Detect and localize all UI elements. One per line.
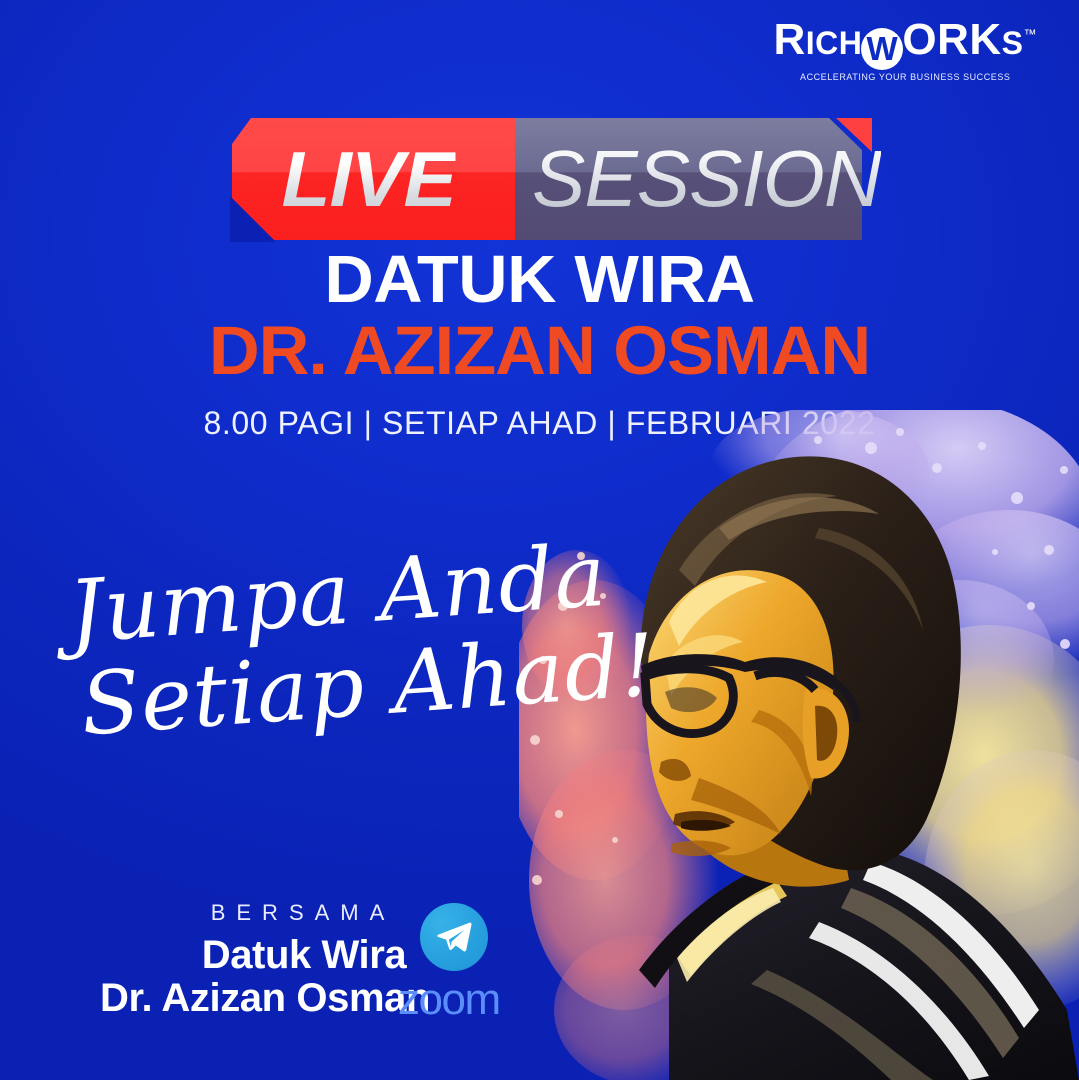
live-session-banner: LIVE SESSION	[232, 118, 862, 240]
portrait-artwork	[519, 410, 1079, 1080]
brand-text-part3: ORK	[902, 15, 1001, 64]
script-headline: Jumpa Anda Setiap Ahad!	[66, 532, 659, 747]
zoom-logo[interactable]: zoom	[398, 978, 500, 1022]
portrait-illustration	[519, 410, 1079, 1080]
speaker-name: DR. AZIZAN OSMAN	[0, 316, 1079, 386]
hair-shape	[641, 456, 961, 870]
brand-wordmark: RICHWORKS™	[773, 18, 1037, 70]
live-label: LIVE	[281, 118, 455, 240]
paper-plane-glyph	[434, 917, 474, 957]
richworks-logo: RICHWORKS™ ACCELERATING YOUR BUSINESS SU…	[773, 18, 1037, 82]
brand-text-part2: ICH	[806, 25, 863, 61]
jacket-shape	[669, 848, 1079, 1080]
brand-tagline: ACCELERATING YOUR BUSINESS SUCCESS	[773, 73, 1037, 82]
brand-text-part4: S	[1002, 25, 1024, 61]
poster-canvas: RICHWORKS™ ACCELERATING YOUR BUSINESS SU…	[0, 0, 1079, 1080]
headline-block: DATUK WIRA DR. AZIZAN OSMAN 8.00 PAGI | …	[0, 246, 1079, 442]
session-label: SESSION	[532, 118, 881, 240]
trademark-symbol: ™	[1024, 26, 1038, 41]
brand-text-part1: R	[773, 15, 805, 64]
speaker-title: DATUK WIRA	[0, 246, 1079, 314]
telegram-icon[interactable]	[420, 903, 488, 971]
brand-circle-w: W	[861, 28, 903, 70]
schedule-text: 8.00 PAGI | SETIAP AHAD | FEBRUARI 2022	[0, 405, 1079, 442]
face-shape	[646, 570, 834, 855]
glasses	[641, 654, 857, 733]
